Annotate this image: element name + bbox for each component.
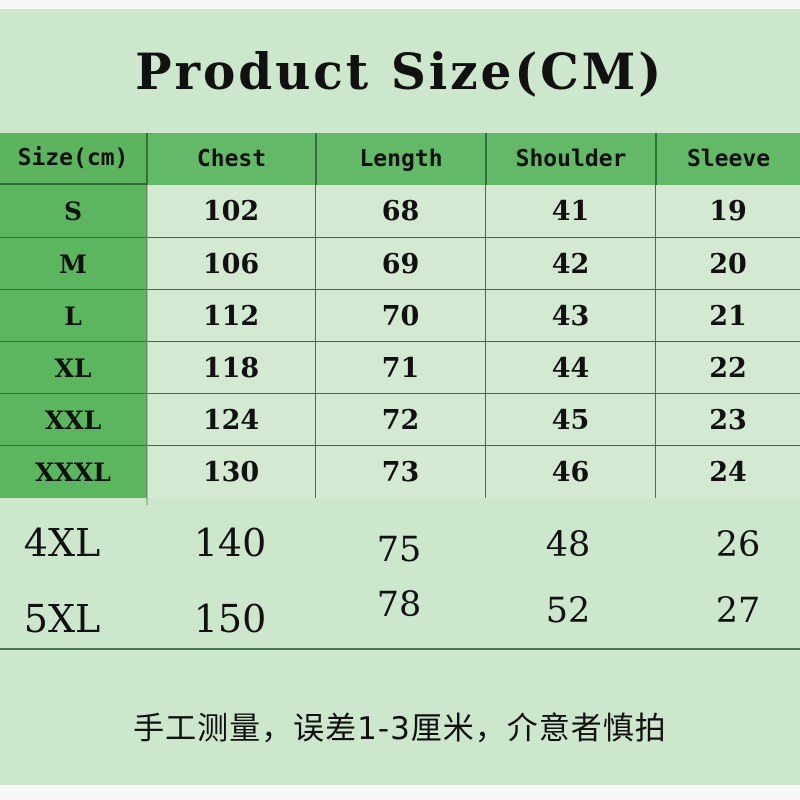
row-size-label: L bbox=[0, 290, 146, 342]
header-cell-sleeve: Sleeve bbox=[655, 133, 800, 185]
header-cell-chest: Chest bbox=[146, 133, 315, 185]
table-row: 5XL 150 78 52 27 bbox=[0, 577, 800, 649]
row-chest: 150 bbox=[194, 597, 267, 641]
row-length: 72 bbox=[315, 394, 485, 446]
table-row: XXL 124 72 45 23 bbox=[0, 393, 800, 446]
header-cell-size: Size(cm) bbox=[0, 133, 146, 185]
row-shoulder: 43 bbox=[485, 290, 655, 342]
row-chest: 118 bbox=[146, 342, 315, 394]
row-sleeve: 20 bbox=[655, 238, 800, 290]
row-chest: 106 bbox=[146, 238, 315, 290]
row-size-label: XXXL bbox=[0, 446, 146, 498]
row-sleeve: 24 bbox=[655, 446, 800, 498]
row-chest: 130 bbox=[146, 446, 315, 498]
measurement-note: 手工测量，误差1-3厘米，介意者慎拍 bbox=[0, 665, 800, 785]
size-column-rule bbox=[146, 185, 148, 505]
row-size-label: XXL bbox=[0, 394, 146, 446]
row-length: 70 bbox=[315, 290, 485, 342]
row-chest: 124 bbox=[146, 394, 315, 446]
row-chest: 102 bbox=[146, 185, 315, 237]
footer-divider bbox=[0, 648, 800, 650]
row-shoulder: 44 bbox=[485, 342, 655, 394]
row-shoulder: 48 bbox=[546, 525, 591, 565]
table-row: L 112 70 43 21 bbox=[0, 289, 800, 342]
table-row: XL 118 71 44 22 bbox=[0, 341, 800, 394]
row-shoulder: 45 bbox=[485, 394, 655, 446]
row-length: 78 bbox=[377, 585, 422, 625]
size-chart-panel: Product Size(CM) Size(cm) Chest Length S… bbox=[0, 9, 800, 785]
extra-size-rows: 4XL 140 75 48 26 5XL 150 78 52 27 bbox=[0, 505, 800, 649]
row-length: 69 bbox=[315, 238, 485, 290]
table-row: 4XL 140 75 48 26 bbox=[0, 505, 800, 577]
row-length: 71 bbox=[315, 342, 485, 394]
row-size-label: 5XL bbox=[24, 597, 100, 641]
row-sleeve: 21 bbox=[655, 290, 800, 342]
row-sleeve: 22 bbox=[655, 342, 800, 394]
size-table: Size(cm) Chest Length Shoulder Sleeve S … bbox=[0, 133, 800, 505]
row-chest: 140 bbox=[194, 521, 267, 565]
chart-title-bar: Product Size(CM) bbox=[0, 9, 800, 133]
measurement-note-text: 手工测量，误差1-3厘米，介意者慎拍 bbox=[133, 703, 667, 748]
table-row: M 106 69 42 20 bbox=[0, 237, 800, 290]
row-size-label: 4XL bbox=[24, 521, 100, 565]
header-cell-length: Length bbox=[315, 133, 485, 185]
table-row: XXXL 130 73 46 24 bbox=[0, 445, 800, 498]
table-row: S 102 68 41 19 bbox=[0, 185, 800, 237]
row-size-label: M bbox=[0, 238, 146, 290]
row-sleeve: 23 bbox=[655, 394, 800, 446]
header-cell-shoulder: Shoulder bbox=[485, 133, 655, 185]
row-shoulder: 46 bbox=[485, 446, 655, 498]
row-size-label: S bbox=[0, 185, 146, 237]
row-shoulder: 42 bbox=[485, 238, 655, 290]
row-sleeve: 19 bbox=[655, 185, 800, 237]
row-length: 68 bbox=[315, 185, 485, 237]
row-shoulder: 52 bbox=[546, 591, 591, 631]
row-shoulder: 41 bbox=[485, 185, 655, 237]
row-sleeve: 27 bbox=[716, 591, 761, 631]
row-length: 73 bbox=[315, 446, 485, 498]
row-sleeve: 26 bbox=[716, 525, 761, 565]
table-header-row: Size(cm) Chest Length Shoulder Sleeve bbox=[0, 133, 800, 185]
row-size-label: XL bbox=[0, 342, 146, 394]
row-length: 75 bbox=[377, 530, 422, 570]
page-title: Product Size(CM) bbox=[136, 42, 665, 101]
row-chest: 112 bbox=[146, 290, 315, 342]
